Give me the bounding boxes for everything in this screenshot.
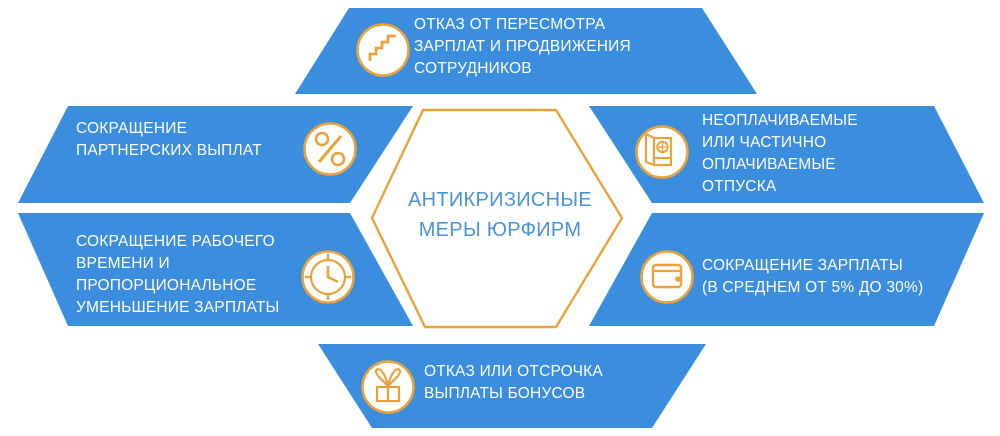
stairs-icon — [358, 25, 409, 76]
banner-bottom-label: ОТКАЗ ИЛИ ОТСРОЧКА ВЫПЛАТЫ БОНУСОВ — [424, 361, 694, 405]
banner-right-upper-label: НЕОПЛАЧИВАЕМЫЕ ИЛИ ЧАСТИЧНО ОПЛАЧИВАЕМЫЕ… — [702, 110, 962, 198]
wallet-icon — [642, 252, 693, 303]
banner-top-label: ОТКАЗ ОТ ПЕРЕСМОТРА ЗАРПЛАТ И ПРОДВИЖЕНИ… — [414, 14, 674, 80]
passport-icon — [637, 127, 688, 178]
center-title: АНТИКРИЗИСНЫЕ МЕРЫ ЮРФИРМ — [385, 185, 615, 245]
banner-right-lower-label: СОКРАЩЕНИЕ ЗАРПЛАТЫ (В СРЕДНЕМ ОТ 5% ДО … — [702, 255, 972, 299]
banner-left-lower-label: СОКРАЩЕНИЕ РАБОЧЕГО ВРЕМЕНИ И ПРОПОРЦИОН… — [76, 231, 316, 319]
infographic-canvas: ОТКАЗ ОТ ПЕРЕСМОТРА ЗАРПЛАТ И ПРОДВИЖЕНИ… — [0, 0, 1000, 436]
gift-icon — [363, 362, 414, 413]
banner-left-upper-label: СОКРАЩЕНИЕ ПАРТНЕРСКИХ ВЫПЛАТ — [76, 118, 326, 162]
